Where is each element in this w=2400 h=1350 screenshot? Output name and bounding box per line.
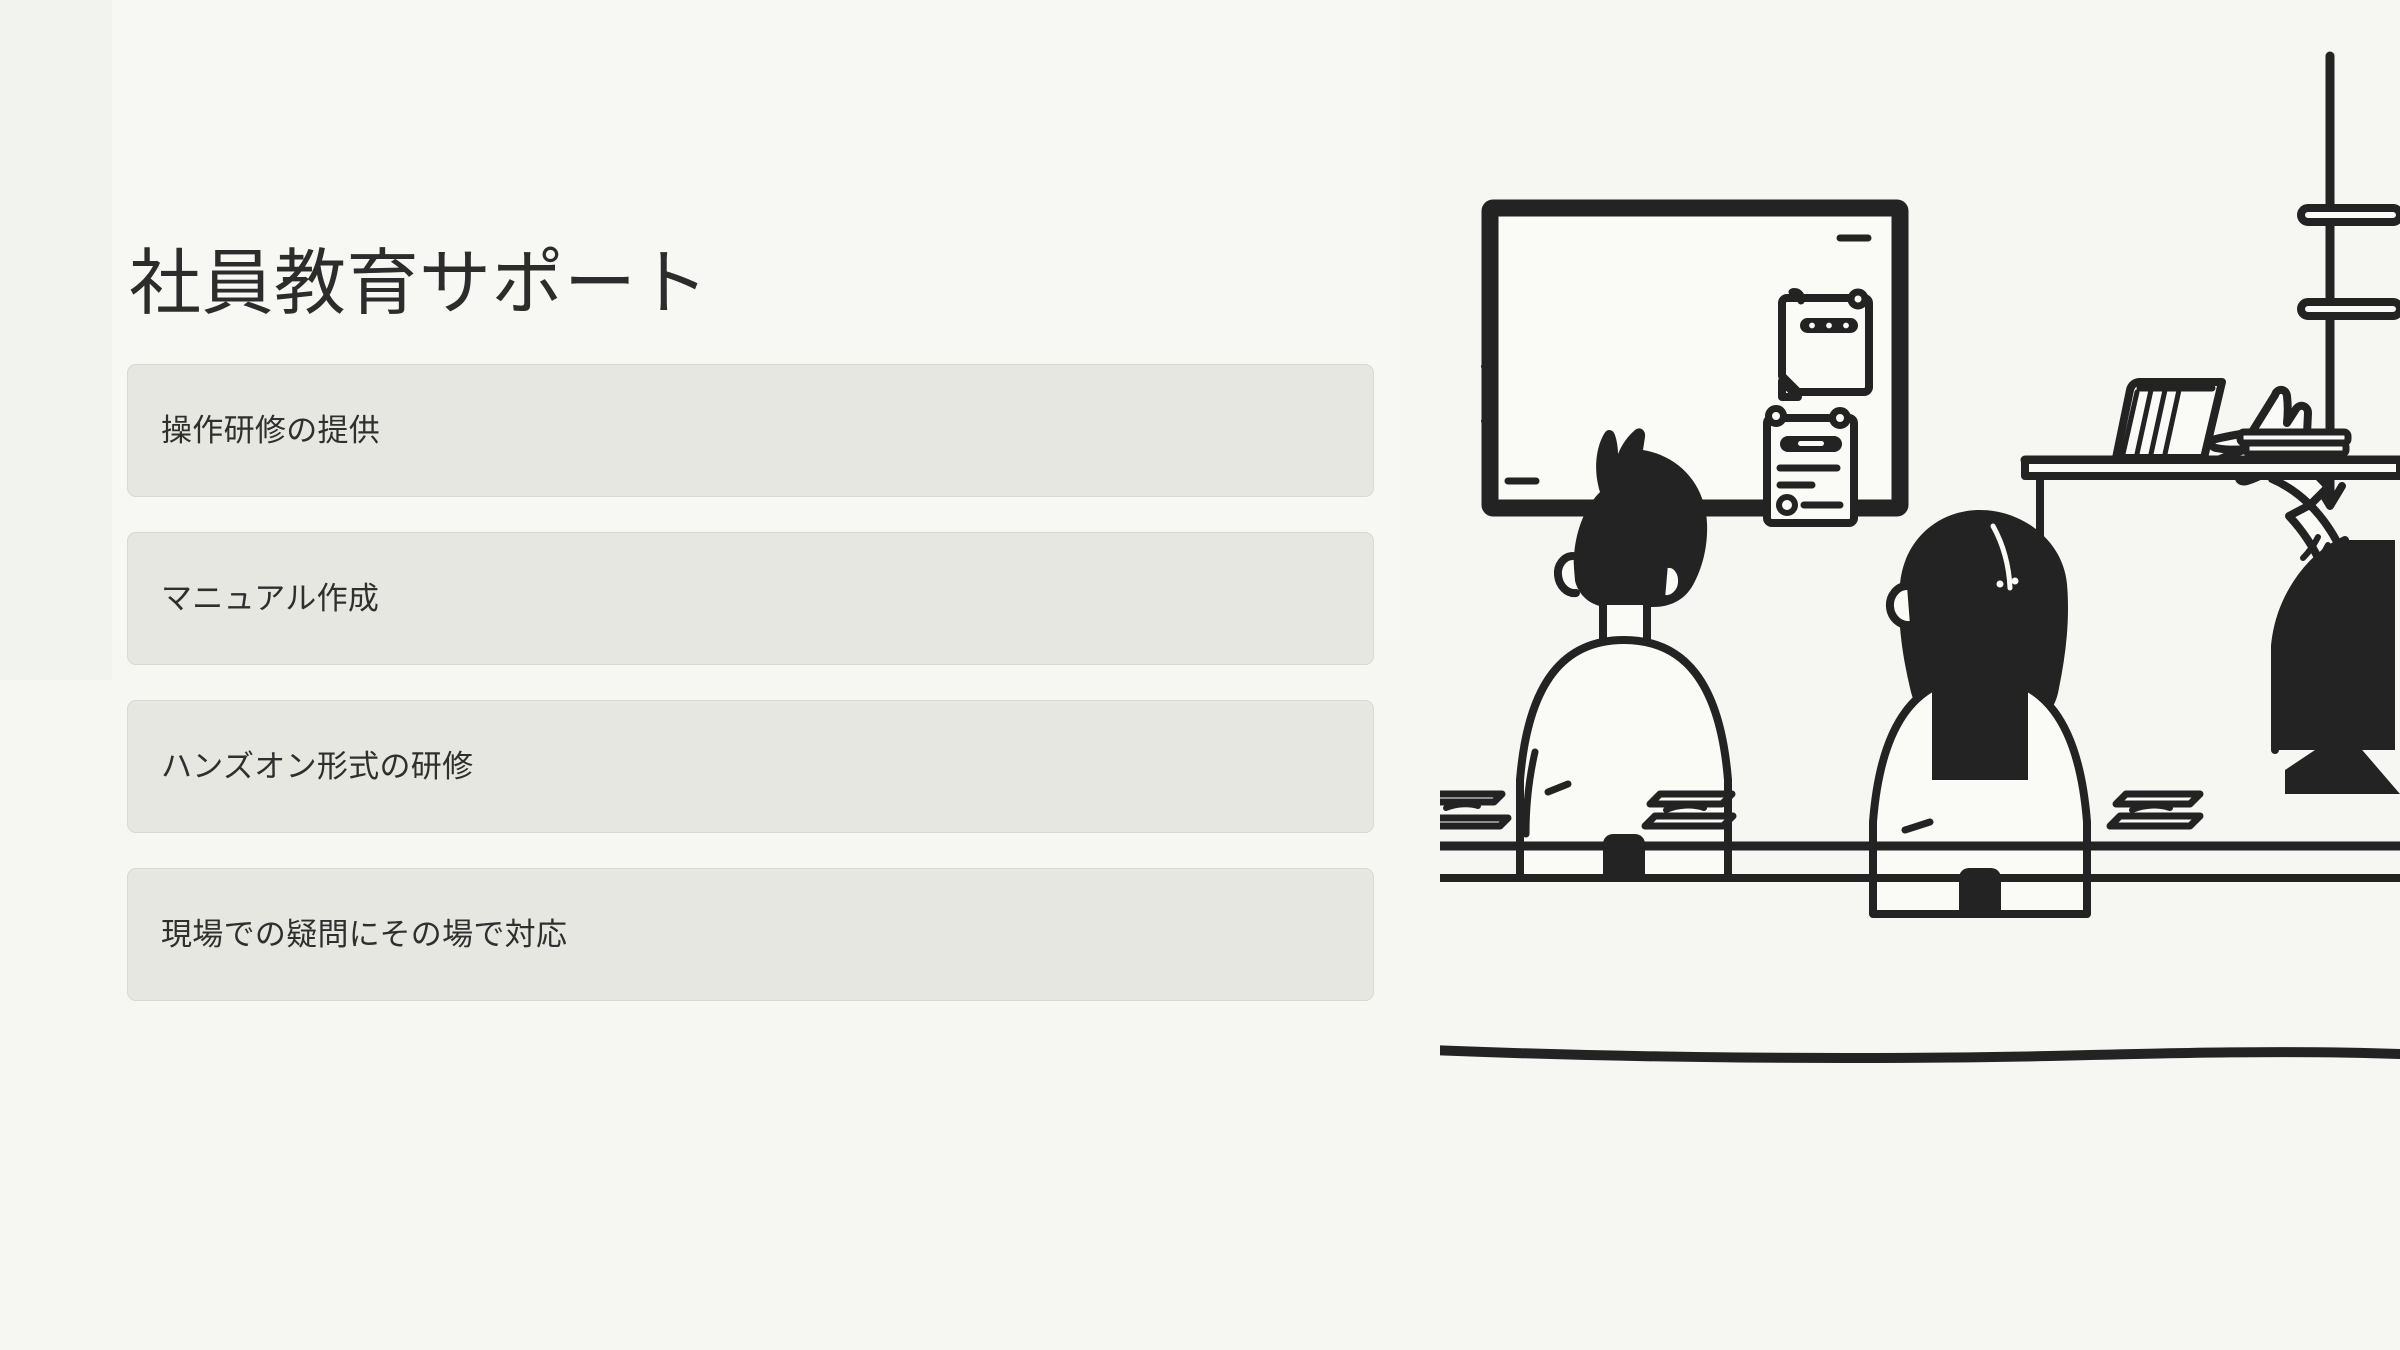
- content-column: 社員教育サポート 操作研修の提供 マニュアル作成 ハンズオン形式の研修 現場での…: [127, 248, 1377, 1001]
- feature-card[interactable]: ハンズオン形式の研修: [127, 700, 1374, 833]
- instructor-right: [2275, 540, 2400, 794]
- classroom-training-illustration: [1440, 40, 2400, 1080]
- book-stack-right-front: [2110, 794, 2200, 826]
- feature-label: 現場での疑問にその場で対応: [161, 916, 567, 953]
- sticky-note-lines: [1767, 409, 1854, 524]
- open-laptop: [2116, 382, 2222, 458]
- background-panel-left: [0, 0, 112, 680]
- feature-card[interactable]: マニュアル作成: [127, 532, 1374, 665]
- student-front-right: [1873, 510, 2087, 914]
- slide-canvas: 社員教育サポート 操作研修の提供 マニュアル作成 ハンズオン形式の研修 現場での…: [0, 0, 2400, 1350]
- illustration-svg: [1440, 40, 2400, 1080]
- book-stack-left: [1440, 794, 1508, 826]
- page-title: 社員教育サポート: [129, 248, 1377, 320]
- feature-label: 操作研修の提供: [161, 412, 380, 449]
- feature-card[interactable]: 操作研修の提供: [127, 364, 1374, 497]
- sticky-note-dots: [1782, 292, 1869, 397]
- floor-line: [1440, 1050, 2400, 1058]
- feature-label: ハンズオン形式の研修: [161, 748, 473, 785]
- book-stack-right: [2240, 432, 2348, 454]
- feature-card[interactable]: 現場での疑問にその場で対応: [127, 868, 1374, 1001]
- feature-label: マニュアル作成: [161, 580, 379, 617]
- feature-list: 操作研修の提供 マニュアル作成 ハンズオン形式の研修 現場での疑問にその場で対応: [127, 364, 1377, 1001]
